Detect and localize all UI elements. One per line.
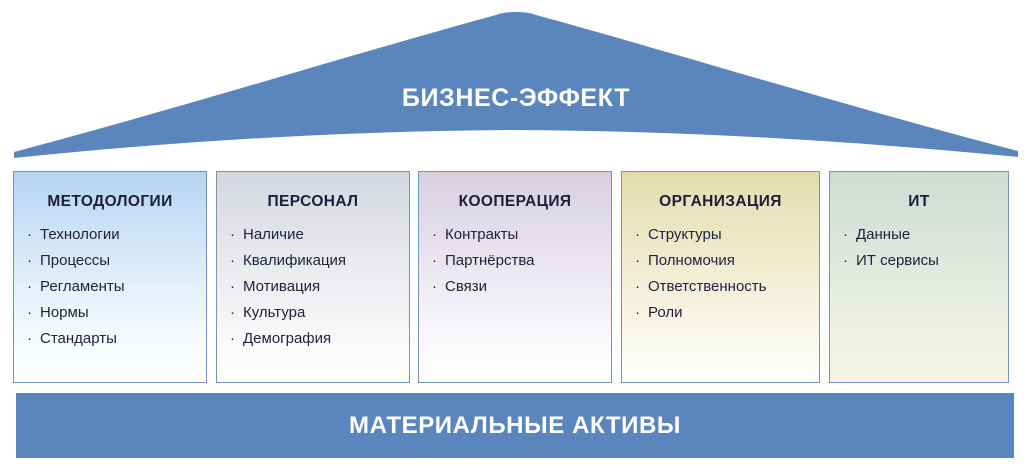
foundation-bar: МАТЕРИАЛЬНЫЕ АКТИВЫ bbox=[16, 393, 1014, 458]
bullet-icon: · bbox=[27, 300, 32, 326]
pillar-title: МЕТОДОЛОГИИ bbox=[14, 194, 206, 210]
list-item-label: Полномочия bbox=[648, 252, 735, 269]
list-item: ·Наличие bbox=[243, 222, 403, 248]
bullet-icon: · bbox=[635, 300, 640, 326]
list-item: ·Технологии bbox=[40, 222, 200, 248]
pillar-title: ПЕРСОНАЛ bbox=[217, 194, 409, 210]
bullet-icon: · bbox=[635, 274, 640, 300]
list-item-label: Процессы bbox=[40, 252, 110, 269]
list-item: ·ИТ сервисы bbox=[856, 248, 1002, 274]
pillar-cooperation[interactable]: КООПЕРАЦИЯ ·Контракты ·Партнёрства ·Связ… bbox=[418, 171, 612, 383]
list-item: ·Демография bbox=[243, 326, 403, 352]
list-item-label: ИТ сервисы bbox=[856, 252, 939, 269]
list-item-label: Ответственность bbox=[648, 278, 767, 295]
list-item: ·Контракты bbox=[445, 222, 605, 248]
bullet-icon: · bbox=[27, 274, 32, 300]
list-item: ·Нормы bbox=[40, 300, 200, 326]
bullet-icon: · bbox=[230, 248, 235, 274]
list-item-label: Демография bbox=[243, 330, 331, 347]
list-item-label: Мотивация bbox=[243, 278, 320, 295]
pillar-items-list: ·Данные ·ИТ сервисы bbox=[830, 222, 1008, 274]
list-item-label: Наличие bbox=[243, 226, 304, 243]
bullet-icon: · bbox=[635, 248, 640, 274]
pillar-items-list: ·Наличие ·Квалификация ·Мотивация ·Культ… bbox=[217, 222, 409, 352]
list-item: ·Полномочия bbox=[648, 248, 813, 274]
pillars-group: МЕТОДОЛОГИИ ·Технологии ·Процессы ·Регла… bbox=[13, 171, 1009, 383]
list-item-label: Структуры bbox=[648, 226, 722, 243]
list-item-label: Технологии bbox=[40, 226, 120, 243]
list-item: ·Регламенты bbox=[40, 274, 200, 300]
pillar-it[interactable]: ИТ ·Данные ·ИТ сервисы bbox=[829, 171, 1009, 383]
bullet-icon: · bbox=[27, 222, 32, 248]
pillar-title: ИТ bbox=[830, 194, 1008, 210]
list-item: ·Роли bbox=[648, 300, 813, 326]
pillar-title: КООПЕРАЦИЯ bbox=[419, 194, 611, 210]
bullet-icon: · bbox=[432, 274, 437, 300]
roof-shape: БИЗНЕС-ЭФФЕКТ bbox=[0, 0, 1032, 165]
bullet-icon: · bbox=[432, 222, 437, 248]
bullet-icon: · bbox=[843, 222, 848, 248]
list-item: ·Данные bbox=[856, 222, 1002, 248]
bullet-icon: · bbox=[27, 248, 32, 274]
bullet-icon: · bbox=[27, 326, 32, 352]
list-item-label: Нормы bbox=[40, 304, 89, 321]
list-item-label: Связи bbox=[445, 278, 487, 295]
bullet-icon: · bbox=[843, 248, 848, 274]
roof-label: БИЗНЕС-ЭФФЕКТ bbox=[0, 86, 1032, 111]
pillar-items-list: ·Контракты ·Партнёрства ·Связи bbox=[419, 222, 611, 300]
list-item: ·Партнёрства bbox=[445, 248, 605, 274]
bullet-icon: · bbox=[432, 248, 437, 274]
business-effect-house-diagram: БИЗНЕС-ЭФФЕКТ МЕТОДОЛОГИИ ·Технологии ·П… bbox=[0, 0, 1032, 473]
pillar-items-list: ·Структуры ·Полномочия ·Ответственность … bbox=[622, 222, 819, 326]
list-item-label: Партнёрства bbox=[445, 252, 535, 269]
pillar-items-list: ·Технологии ·Процессы ·Регламенты ·Нормы… bbox=[14, 222, 206, 352]
list-item-label: Квалификация bbox=[243, 252, 346, 269]
bullet-icon: · bbox=[230, 300, 235, 326]
foundation-label: МАТЕРИАЛЬНЫЕ АКТИВЫ bbox=[349, 414, 681, 438]
list-item: ·Мотивация bbox=[243, 274, 403, 300]
list-item: ·Процессы bbox=[40, 248, 200, 274]
list-item-label: Роли bbox=[648, 304, 683, 321]
bullet-icon: · bbox=[635, 222, 640, 248]
list-item: ·Ответственность bbox=[648, 274, 813, 300]
pillar-title: ОРГАНИЗАЦИЯ bbox=[622, 194, 819, 210]
bullet-icon: · bbox=[230, 326, 235, 352]
list-item: ·Структуры bbox=[648, 222, 813, 248]
list-item: ·Культура bbox=[243, 300, 403, 326]
list-item-label: Стандарты bbox=[40, 330, 117, 347]
pillar-methodologies[interactable]: МЕТОДОЛОГИИ ·Технологии ·Процессы ·Регла… bbox=[13, 171, 207, 383]
pillar-personnel[interactable]: ПЕРСОНАЛ ·Наличие ·Квалификация ·Мотивац… bbox=[216, 171, 410, 383]
bullet-icon: · bbox=[230, 274, 235, 300]
list-item-label: Контракты bbox=[445, 226, 518, 243]
pillar-organization[interactable]: ОРГАНИЗАЦИЯ ·Структуры ·Полномочия ·Отве… bbox=[621, 171, 820, 383]
list-item-label: Культура bbox=[243, 304, 305, 321]
bullet-icon: · bbox=[230, 222, 235, 248]
list-item: ·Связи bbox=[445, 274, 605, 300]
list-item: ·Квалификация bbox=[243, 248, 403, 274]
list-item-label: Данные bbox=[856, 226, 910, 243]
list-item-label: Регламенты bbox=[40, 278, 125, 295]
list-item: ·Стандарты bbox=[40, 326, 200, 352]
